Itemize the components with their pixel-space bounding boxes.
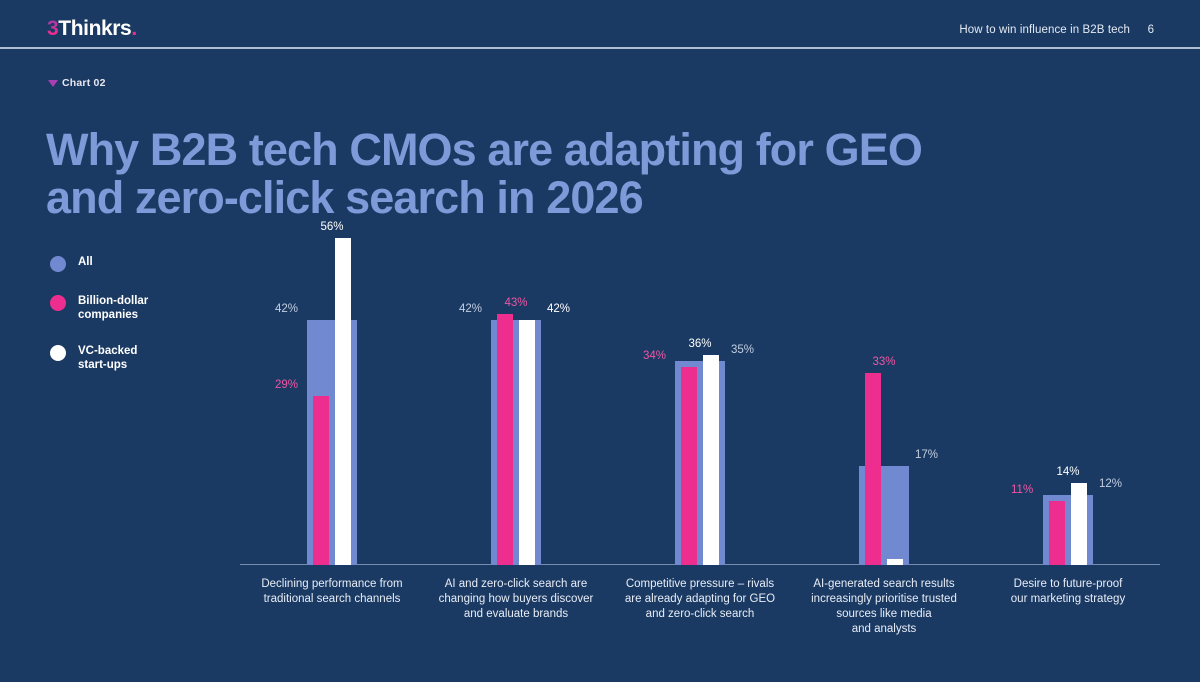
legend-item-billion-dollar[interactable]: Billion-dollar companies bbox=[50, 294, 230, 322]
legend-label-vc-backed: VC-backed start-ups bbox=[78, 344, 137, 372]
legend-label-all: All bbox=[78, 255, 93, 269]
page-number: 6 bbox=[1148, 24, 1154, 36]
bar-label-billion-dollar: 29% bbox=[275, 379, 298, 391]
bar-groups: 42%29%56%Declining performance from trad… bbox=[240, 215, 1160, 565]
bar-vc-backed[interactable] bbox=[335, 238, 351, 565]
bar-group: 17%33%1%AI-generated search results incr… bbox=[792, 215, 976, 565]
header-divider bbox=[0, 47, 1200, 49]
legend-swatch-all bbox=[50, 256, 66, 272]
deck-title: How to win influence in B2B tech bbox=[959, 24, 1130, 36]
legend-swatch-billion-dollar bbox=[50, 295, 66, 311]
category-label: Declining performance from traditional s… bbox=[245, 577, 420, 607]
bar-label-all: 42% bbox=[459, 303, 482, 315]
bar-group: 12%11%14%Desire to future-proof our mark… bbox=[976, 215, 1160, 565]
bar-billion-dollar[interactable] bbox=[313, 396, 329, 565]
bar-group: 42%43%42%AI and zero-click search are ch… bbox=[424, 215, 608, 565]
bar-billion-dollar[interactable] bbox=[497, 314, 513, 565]
legend-item-all[interactable]: All bbox=[50, 255, 230, 272]
bar-billion-dollar[interactable] bbox=[1049, 501, 1065, 565]
bar-vc-backed[interactable] bbox=[703, 355, 719, 565]
bar-label-billion-dollar: 11% bbox=[1011, 484, 1033, 496]
bar-label-billion-dollar: 43% bbox=[504, 297, 527, 309]
bar-label-vc-backed: 42% bbox=[547, 303, 570, 315]
triangle-down-icon bbox=[48, 80, 58, 87]
bar-billion-dollar[interactable] bbox=[865, 373, 881, 566]
bar-group: 35%34%36%Competitive pressure – rivals a… bbox=[608, 215, 792, 565]
bar-label-billion-dollar: 34% bbox=[643, 350, 666, 362]
bar-vc-backed[interactable] bbox=[519, 320, 535, 565]
bar-label-billion-dollar: 33% bbox=[872, 356, 895, 368]
legend-swatch-vc-backed bbox=[50, 345, 66, 361]
bar-chart: 42%29%56%Declining performance from trad… bbox=[240, 215, 1160, 565]
page-title: Why B2B tech CMOs are adapting for GEO a… bbox=[46, 126, 946, 222]
legend-label-billion-dollar: Billion-dollar companies bbox=[78, 294, 148, 322]
bar-vc-backed[interactable] bbox=[1071, 483, 1087, 565]
chart-eyebrow-label: Chart 02 bbox=[62, 77, 106, 89]
bar-label-vc-backed: 56% bbox=[320, 221, 343, 233]
header-meta: How to win influence in B2B tech 6 bbox=[0, 24, 1200, 40]
bar-vc-backed[interactable] bbox=[887, 559, 903, 565]
bar-label-all: 17% bbox=[915, 449, 938, 461]
bar-label-all: 42% bbox=[275, 303, 298, 315]
bar-label-vc-backed: 14% bbox=[1056, 466, 1079, 478]
bar-label-all: 12% bbox=[1099, 478, 1122, 490]
category-label: Desire to future-proof our marketing str… bbox=[981, 577, 1156, 607]
legend-item-vc-backed[interactable]: VC-backed start-ups bbox=[50, 344, 230, 372]
bar-label-all: 35% bbox=[731, 344, 754, 356]
bar-label-vc-backed: 36% bbox=[688, 338, 711, 350]
bar-group: 42%29%56%Declining performance from trad… bbox=[240, 215, 424, 565]
bar-billion-dollar[interactable] bbox=[681, 367, 697, 565]
category-label: AI and zero-click search are changing ho… bbox=[429, 577, 604, 622]
category-label: AI-generated search results increasingly… bbox=[797, 577, 972, 637]
chart-eyebrow: Chart 02 bbox=[48, 77, 106, 89]
category-label: Competitive pressure – rivals are alread… bbox=[613, 577, 788, 622]
chart-legend: All Billion-dollar companies VC-backed s… bbox=[50, 255, 230, 394]
page-header: 3Thinkrs. How to win influence in B2B te… bbox=[0, 0, 1200, 48]
